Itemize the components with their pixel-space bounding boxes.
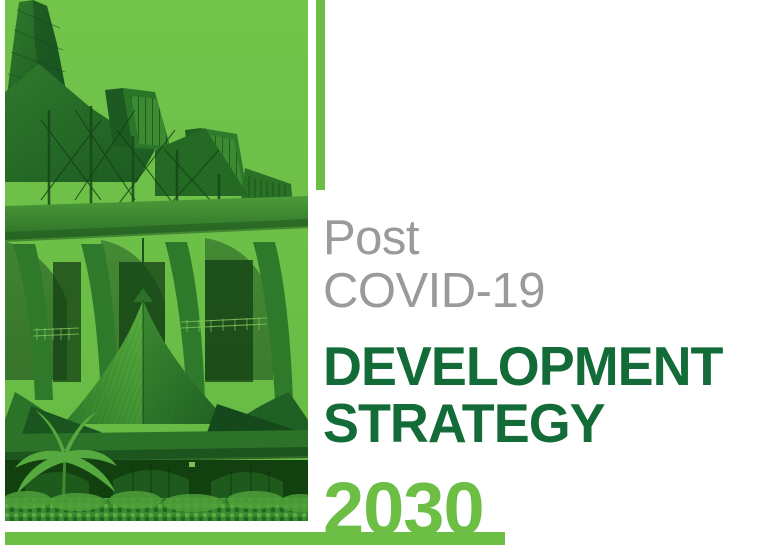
cover-title-block: Post COVID-19 DEVELOPMENT STRATEGY 2030	[323, 214, 743, 546]
title-line-post: Post	[323, 214, 743, 263]
horizontal-accent-bar	[5, 532, 505, 545]
title-line-development: DEVELOPMENT	[323, 338, 735, 395]
cover-photo-illustration	[5, 0, 308, 521]
report-cover-page: Post COVID-19 DEVELOPMENT STRATEGY 2030	[0, 0, 761, 549]
title-line-covid19: COVID-19	[323, 267, 743, 316]
cover-photo	[5, 0, 308, 521]
vertical-accent-bar	[316, 0, 325, 190]
title-line-strategy: STRATEGY	[323, 395, 735, 452]
